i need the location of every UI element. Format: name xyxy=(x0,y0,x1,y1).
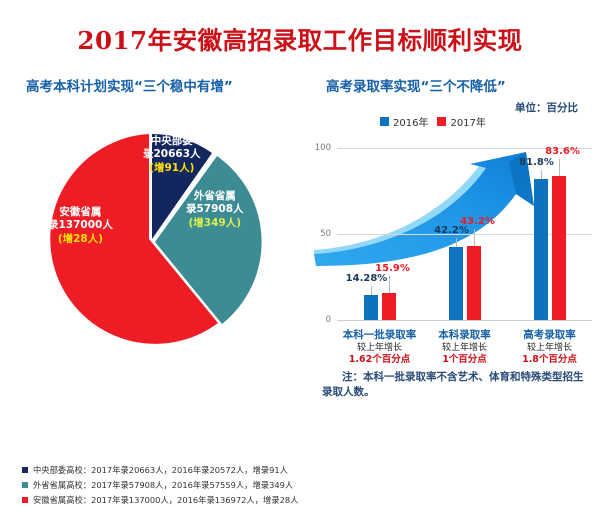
bar-value-label: 14.28% xyxy=(346,273,388,284)
bar-legend-swatch-2016 xyxy=(380,117,389,126)
bar-legend-label-2017: 2017年 xyxy=(450,114,485,129)
bar-value-label: 83.6% xyxy=(545,146,580,157)
bar-value-label: 42.2% xyxy=(434,225,469,236)
page-title: 2017年安徽高招录取工作目标顺利实现 xyxy=(0,22,600,57)
legend-label-outprov: 外省省属高校：2017年录57908人，2016年录57559人，增录349人 xyxy=(33,479,293,491)
x-category-growth-value: 1.62个百分点 xyxy=(343,354,417,367)
bar-legend-label-2016: 2016年 xyxy=(393,114,428,129)
bar-2017 xyxy=(467,246,481,320)
left-panel-subtitle: 高考本科计划实现“三个稳中有增” xyxy=(26,75,233,95)
legend-swatch-central xyxy=(22,467,28,473)
legend-label-central: 中央部委高校：2017年录20663人，2016年录20572人，增录91人 xyxy=(33,464,288,476)
value-leader-line xyxy=(389,276,390,293)
x-axis-line xyxy=(337,320,592,321)
bar-legend: 2016年 2017年 xyxy=(380,114,486,129)
bar-value-label: 43.2% xyxy=(460,216,495,227)
bar-2016 xyxy=(364,295,378,320)
bar-chart-panel: 2016年 2017年 05010014.28%15.9%42.2%43.2%8… xyxy=(300,112,600,429)
x-category-growth-text: 较上年增长 xyxy=(522,342,577,354)
bar-value-label: 15.9% xyxy=(375,263,410,274)
right-panel-subtitle: 高考录取率实现“三个不降低” xyxy=(326,75,506,95)
y-axis-tick: 50 xyxy=(300,229,331,239)
pie-chart xyxy=(36,128,266,350)
x-category-growth-value: 1个百分点 xyxy=(438,354,491,367)
bar-2017 xyxy=(552,176,566,320)
legend-label-anhui: 安徽省属高校：2017年录137000人，2016年录136972人，增录28人 xyxy=(33,494,298,506)
legend-item-anhui: 安徽省属高校：2017年录137000人，2016年录136972人，增录28人 xyxy=(22,492,302,507)
legend-item-outprov: 外省省属高校：2017年录57908人，2016年录57559人，增录349人 xyxy=(22,477,302,492)
y-axis-tick: 100 xyxy=(300,143,331,153)
bar-legend-item-2016: 2016年 xyxy=(380,114,428,129)
x-category-name: 本科录取率 xyxy=(438,328,491,342)
x-category-growth-value: 1.8个百分点 xyxy=(522,354,577,367)
x-category-label: 高考录取率较上年增长1.8个百分点 xyxy=(522,328,577,367)
bar-plot-area: 05010014.28%15.9%42.2%43.2%81.8%83.6% xyxy=(300,130,600,330)
x-category-label: 本科一批录取率较上年增长1.62个百分点 xyxy=(343,328,417,367)
legend-swatch-anhui xyxy=(22,497,28,503)
bar-value-label: 81.8% xyxy=(519,157,554,168)
pie-chart-panel: 中央部委 录20663人 (增91人) 外省省属 录57908人 (增349人)… xyxy=(0,112,300,429)
bar-legend-item-2017: 2017年 xyxy=(437,114,485,129)
x-category-name: 高考录取率 xyxy=(522,328,577,342)
bar-2016 xyxy=(449,247,463,320)
pie-legend: 中央部委高校：2017年录20663人，2016年录20572人，增录91人 外… xyxy=(22,462,302,507)
x-category-growth-text: 较上年增长 xyxy=(343,342,417,354)
y-axis-tick: 0 xyxy=(300,315,331,325)
x-category-name: 本科一批录取率 xyxy=(343,328,417,342)
value-leader-line xyxy=(541,170,542,179)
bar-chart-note: 注：本科一批录取率不含艺术、体育和特殊类型招生录取人数。 xyxy=(322,370,590,400)
value-leader-line xyxy=(371,286,372,295)
bar-2017 xyxy=(382,293,396,320)
legend-item-central: 中央部委高校：2017年录20663人，2016年录20572人，增录91人 xyxy=(22,462,302,477)
value-leader-line xyxy=(456,238,457,247)
value-leader-line xyxy=(474,229,475,246)
value-leader-line xyxy=(559,159,560,176)
x-category-label: 本科录取率较上年增长1个百分点 xyxy=(438,328,491,367)
legend-swatch-outprov xyxy=(22,482,28,488)
bar-legend-swatch-2017 xyxy=(437,117,446,126)
bar-2016 xyxy=(534,179,548,320)
x-category-growth-text: 较上年增长 xyxy=(438,342,491,354)
